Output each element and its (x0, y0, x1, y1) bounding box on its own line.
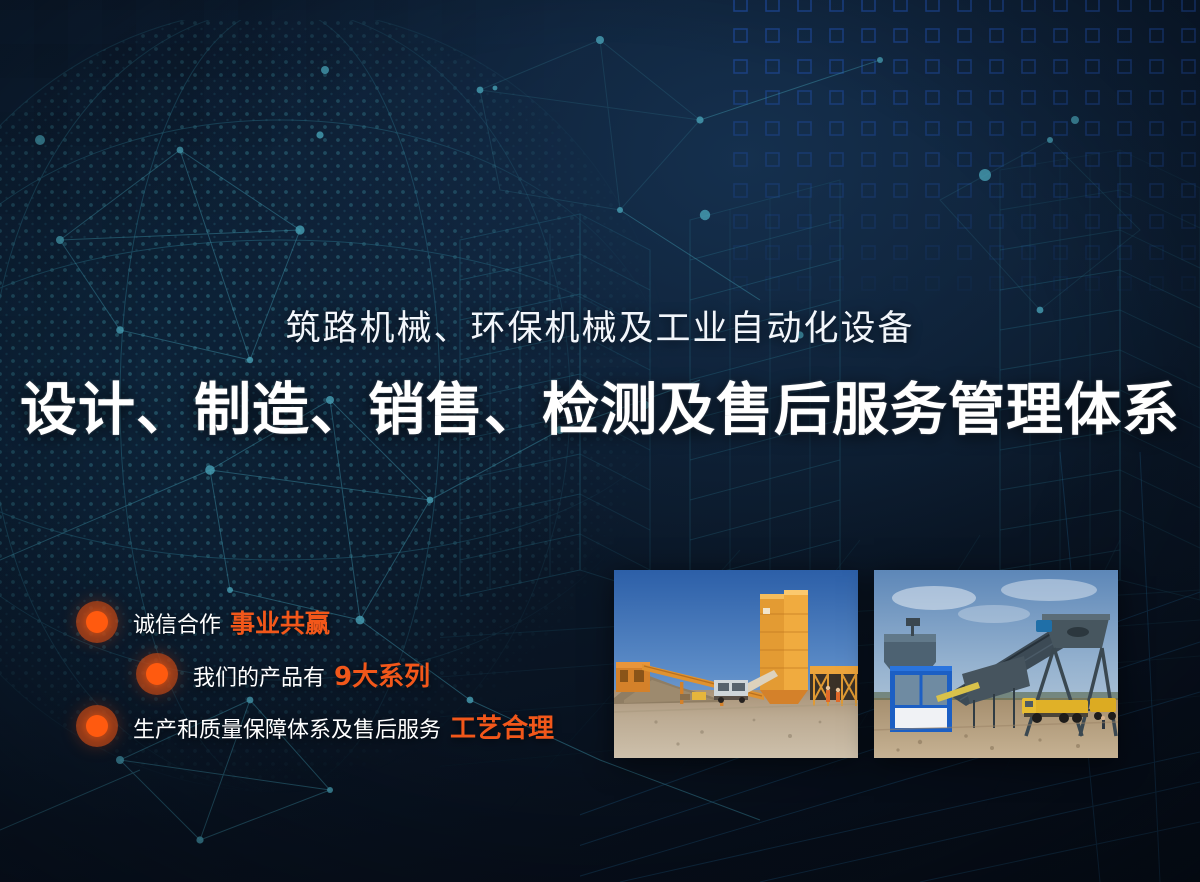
list-item: 我们的产品有9大系列 (0, 648, 600, 700)
feature-bullet-list: 诚信合作事业共赢 我们的产品有9大系列 生产和质量保障体系及售后服务工艺合理 (0, 596, 600, 752)
bullet-text: 生产和质量保障体系及售后服务工艺合理 (133, 708, 554, 745)
bullet-label: 我们的产品有 (193, 666, 325, 691)
bullet-label: 诚信合作 (133, 613, 221, 638)
photo-stabilized-soil-mixing-plant (874, 570, 1118, 758)
banner-subtitle: 筑路机械、环保机械及工业自动化设备 (0, 300, 1200, 351)
bullet-highlight: 9大系列 (334, 662, 430, 692)
bullet-dot-icon (76, 601, 118, 643)
bullet-text: 我们的产品有9大系列 (193, 656, 430, 693)
bullet-dot-icon (76, 705, 118, 747)
photo-concrete-batching-plant (614, 570, 858, 758)
bullet-text: 诚信合作事业共赢 (133, 604, 330, 640)
bullet-highlight: 工艺合理 (450, 714, 554, 744)
banner-headline: 设计、制造、销售、检测及售后服务管理体系 (0, 364, 1200, 446)
bullet-label: 生产和质量保障体系及售后服务 (133, 718, 441, 743)
list-item: 诚信合作事业共赢 (0, 596, 600, 648)
bullet-highlight: 事业共赢 (230, 609, 330, 638)
bullet-dot-icon (136, 653, 178, 695)
promo-banner: 筑路机械、环保机械及工业自动化设备 设计、制造、销售、检测及售后服务管理体系 诚… (0, 0, 1200, 882)
list-item: 生产和质量保障体系及售后服务工艺合理 (0, 700, 600, 752)
